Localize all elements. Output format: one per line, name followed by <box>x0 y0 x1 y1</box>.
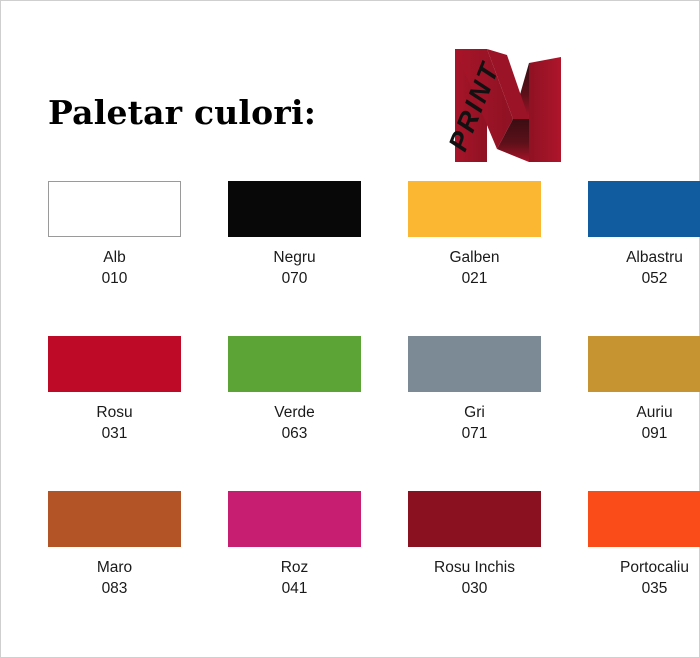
swatch-chip[interactable] <box>228 336 361 392</box>
swatch-name: Portocaliu <box>620 558 689 579</box>
palette-row: Maro 083 Roz 041 Rosu Inchis 030 Portoca… <box>1 491 700 646</box>
color-palette-page: Paletar culori: <box>0 0 700 658</box>
swatch-chip[interactable] <box>408 181 541 237</box>
swatch-verde[interactable]: Verde 063 <box>228 336 361 491</box>
swatch-code: 070 <box>282 269 308 290</box>
swatch-maro[interactable]: Maro 083 <box>48 491 181 646</box>
swatch-code: 035 <box>642 579 668 600</box>
swatch-portocaliu[interactable]: Portocaliu 035 <box>588 491 700 646</box>
swatch-name: Negru <box>273 248 315 269</box>
swatch-chip[interactable] <box>408 491 541 547</box>
swatch-name: Gri <box>464 403 485 424</box>
palette-row: Alb 010 Negru 070 Galben 021 Albastru 05… <box>1 181 700 336</box>
swatch-auriu[interactable]: Auriu 091 <box>588 336 700 491</box>
swatch-chip[interactable] <box>588 181 700 237</box>
swatch-code: 083 <box>102 579 128 600</box>
swatch-name: Galben <box>450 248 500 269</box>
page-title: Paletar culori: <box>48 93 316 132</box>
swatch-rosu-inchis[interactable]: Rosu Inchis 030 <box>408 491 541 646</box>
mprint-logo: PRINT <box>425 27 585 179</box>
swatch-code: 021 <box>462 269 488 290</box>
swatch-code: 071 <box>462 424 488 445</box>
swatch-name: Rosu Inchis <box>434 558 515 579</box>
swatch-chip[interactable] <box>228 181 361 237</box>
swatch-alb[interactable]: Alb 010 <box>48 181 181 336</box>
swatch-code: 052 <box>642 269 668 290</box>
swatch-chip[interactable] <box>588 336 700 392</box>
swatch-chip[interactable] <box>408 336 541 392</box>
swatch-chip[interactable] <box>228 491 361 547</box>
swatch-name: Alb <box>103 248 125 269</box>
swatch-code: 010 <box>102 269 128 290</box>
swatch-galben[interactable]: Galben 021 <box>408 181 541 336</box>
swatch-code: 030 <box>462 579 488 600</box>
swatch-name: Maro <box>97 558 132 579</box>
swatch-albastru[interactable]: Albastru 052 <box>588 181 700 336</box>
swatch-gri[interactable]: Gri 071 <box>408 336 541 491</box>
swatch-code: 031 <box>102 424 128 445</box>
palette-grid: Alb 010 Negru 070 Galben 021 Albastru 05… <box>1 181 700 646</box>
swatch-negru[interactable]: Negru 070 <box>228 181 361 336</box>
swatch-name: Auriu <box>636 403 672 424</box>
swatch-chip[interactable] <box>48 181 181 237</box>
swatch-code: 041 <box>282 579 308 600</box>
swatch-chip[interactable] <box>48 491 181 547</box>
palette-row: Rosu 031 Verde 063 Gri 071 Auriu 091 <box>1 336 700 491</box>
swatch-code: 063 <box>282 424 308 445</box>
swatch-name: Verde <box>274 403 315 424</box>
swatch-rosu[interactable]: Rosu 031 <box>48 336 181 491</box>
swatch-name: Rosu <box>96 403 132 424</box>
swatch-chip[interactable] <box>588 491 700 547</box>
swatch-roz[interactable]: Roz 041 <box>228 491 361 646</box>
swatch-code: 091 <box>642 424 668 445</box>
page-header: Paletar culori: <box>1 1 700 181</box>
swatch-name: Roz <box>281 558 309 579</box>
swatch-name: Albastru <box>626 248 683 269</box>
swatch-chip[interactable] <box>48 336 181 392</box>
